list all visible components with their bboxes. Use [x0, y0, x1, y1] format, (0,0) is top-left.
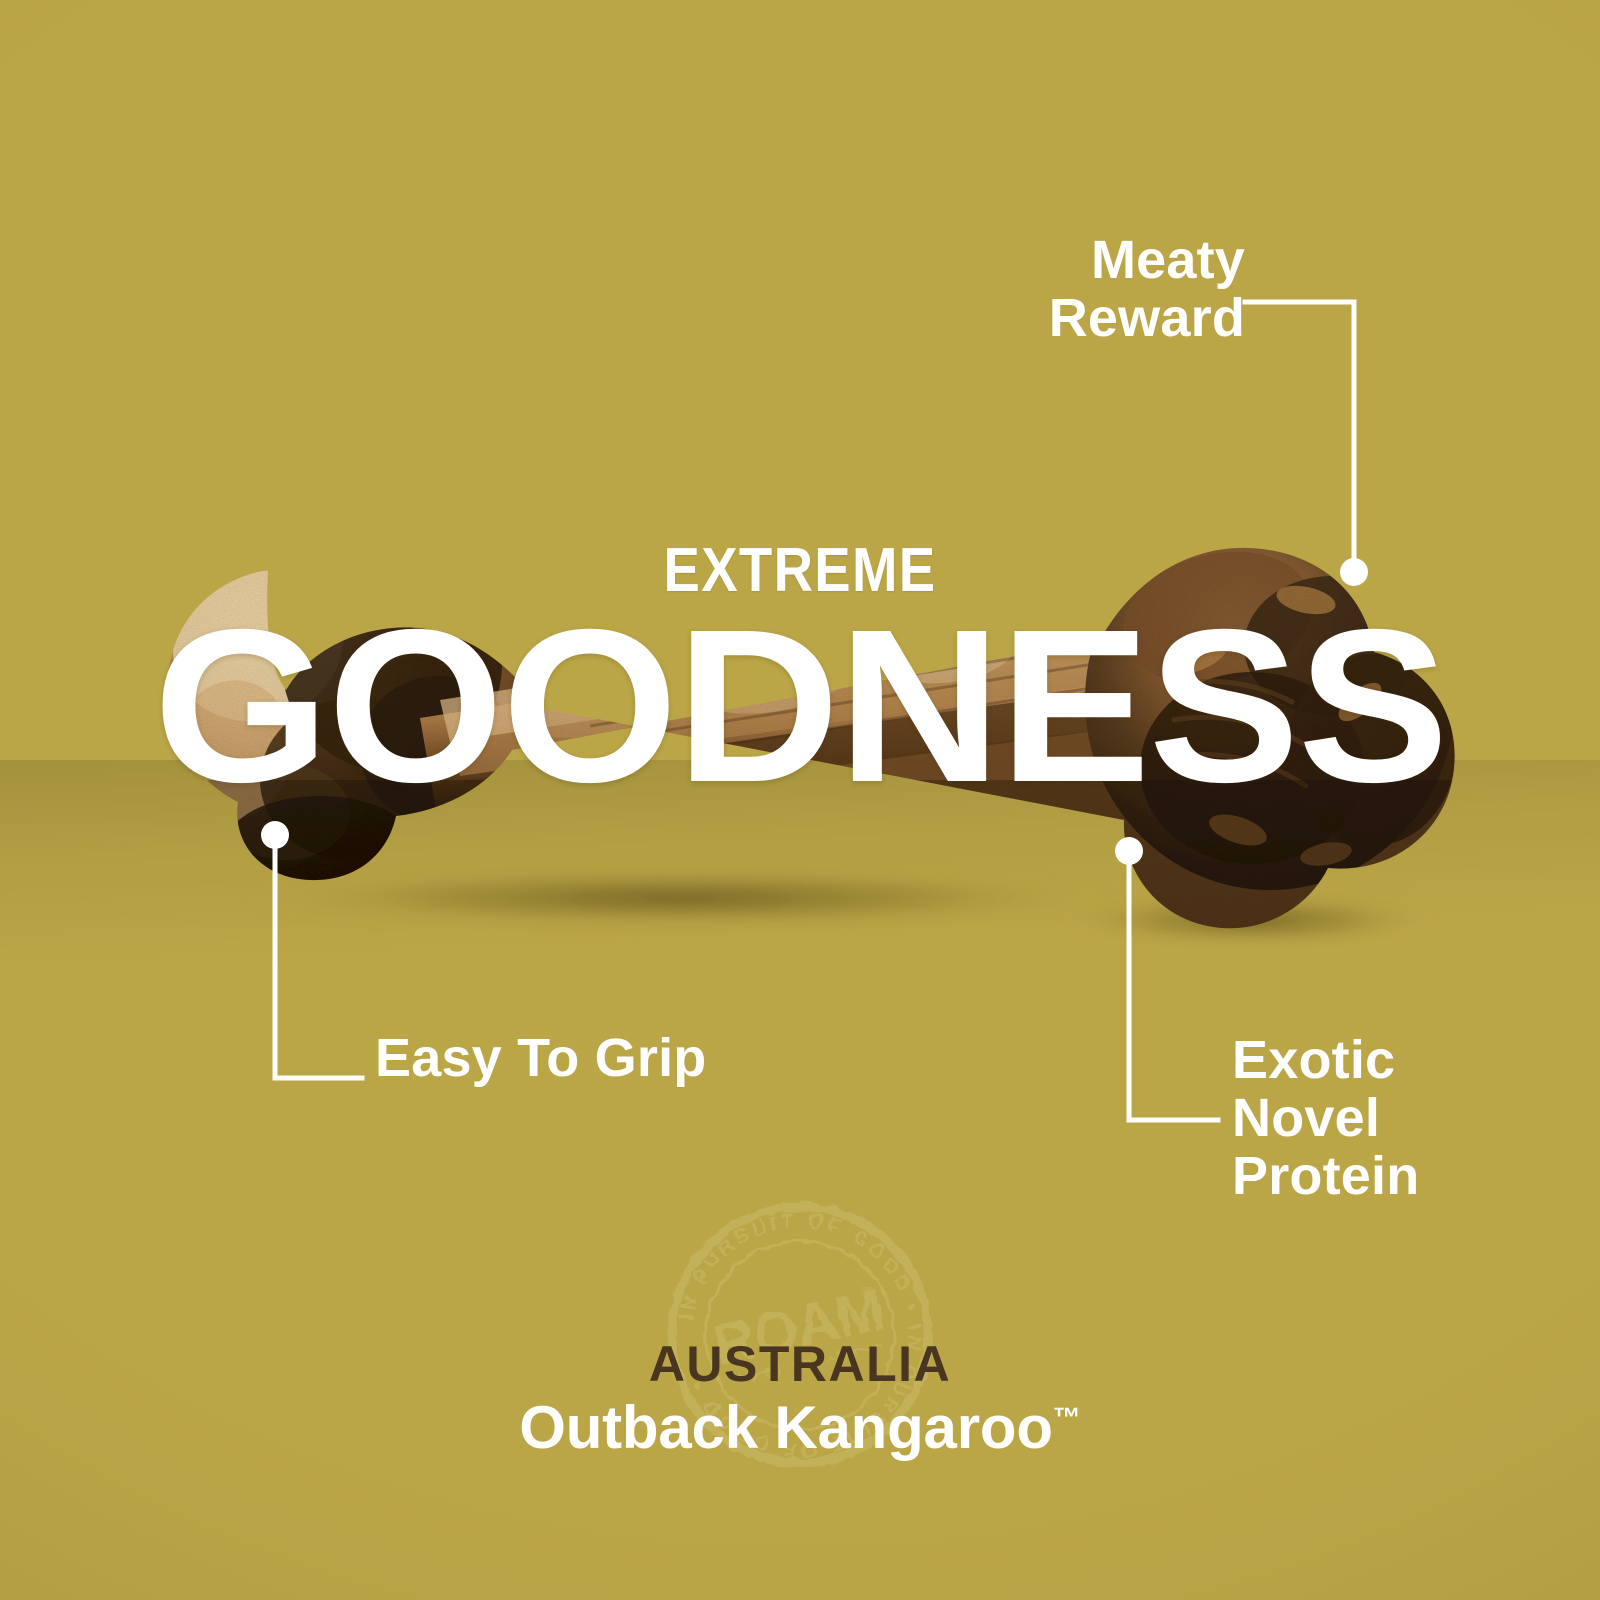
- callout-label-exotic-novel-protein: Exotic Novel Protein: [1232, 1032, 1419, 1205]
- country-of-origin: AUSTRALIA: [0, 1335, 1600, 1393]
- trademark-symbol: ™: [1053, 1402, 1081, 1433]
- product-marketing-banner: EXTREME GOODNESS Meaty Reward Easy To Gr…: [0, 0, 1600, 1600]
- product-name-text: Outback Kangaroo: [519, 1394, 1053, 1461]
- callout-label-meaty-reward: Meaty Reward: [1049, 232, 1245, 348]
- product-photo-bone: [120, 450, 1500, 950]
- product-name: Outback Kangaroo™: [0, 1393, 1600, 1462]
- callout-label-easy-to-grip: Easy To Grip: [375, 1030, 707, 1088]
